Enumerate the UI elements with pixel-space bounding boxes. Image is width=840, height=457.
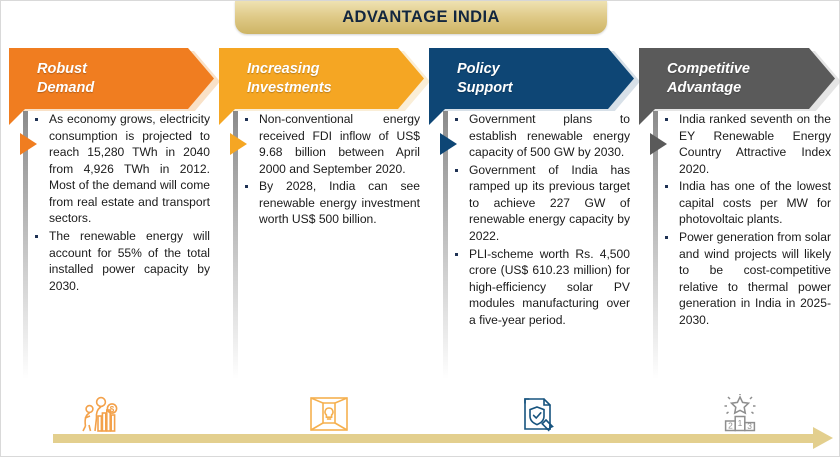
column-robust-demand: Robust Demand As economy grows, electric… <box>9 48 214 383</box>
panel-pointer-policy-support <box>440 133 457 155</box>
panel-pointer-increasing-investments <box>230 133 247 155</box>
podium-star-icon: 1 2 3 <box>717 394 763 434</box>
advantage-india-banner: ADVANTAGE INDIA <box>235 1 607 34</box>
panel-robust-demand: As economy grows, electricity consumptio… <box>9 111 214 383</box>
column-heading-increasing-investments: Increasing Investments <box>247 60 332 97</box>
list-item: PLI-scheme worth Rs. 4,500 crore (US$ 61… <box>467 246 630 329</box>
panel-pointer-competitive-advantage <box>650 133 667 155</box>
page-title: ADVANTAGE INDIA <box>342 8 500 27</box>
growth-chart-icon: $ <box>76 394 122 434</box>
panel-corner-robust-demand <box>9 109 25 125</box>
column-heading-robust-demand: Robust Demand <box>37 60 94 97</box>
panel-increasing-investments: Non-conventional energy received FDI inf… <box>219 111 424 383</box>
panel-corner-competitive-advantage <box>639 109 655 125</box>
panel-competitive-advantage: India ranked seventh on the EY Renewable… <box>639 111 835 383</box>
list-item: As economy grows, electricity consumptio… <box>47 111 210 227</box>
svg-text:2: 2 <box>728 420 733 430</box>
panel-corner-increasing-investments <box>219 109 235 125</box>
list-item: India has one of the lowest capital cost… <box>677 178 831 228</box>
bullet-list-policy-support: Government plans to establish renewable … <box>429 111 634 328</box>
chevron-header-competitive-advantage[interactable]: Competitive Advantage <box>639 48 835 109</box>
list-item: India ranked seventh on the EY Renewable… <box>677 111 831 177</box>
list-item: Non-conventional energy received FDI inf… <box>257 111 420 177</box>
chevron-header-robust-demand[interactable]: Robust Demand <box>9 48 214 109</box>
list-item: By 2028, India can see renewable energy … <box>257 178 420 228</box>
chevron-header-policy-support[interactable]: Policy Support <box>429 48 634 109</box>
panel-pointer-robust-demand <box>20 133 37 155</box>
open-door-bulb-icon <box>306 394 352 434</box>
infographic-root: ADVANTAGE INDIA Robust Demand As economy… <box>0 0 840 457</box>
list-item: Government of India has ramped up its pr… <box>467 162 630 245</box>
list-item: Power generation from solar and wind pro… <box>677 229 831 328</box>
svg-text:1: 1 <box>738 418 743 428</box>
bullet-list-competitive-advantage: India ranked seventh on the EY Renewable… <box>639 111 835 328</box>
list-item: Government plans to establish renewable … <box>467 111 630 161</box>
policy-document-shield-icon <box>513 394 559 434</box>
column-competitive-advantage: Competitive Advantage India ranked seven… <box>639 48 835 383</box>
column-policy-support: Policy Support Government plans to estab… <box>429 48 634 383</box>
panel-policy-support: Government plans to establish renewable … <box>429 111 634 383</box>
panel-corner-policy-support <box>429 109 445 125</box>
svg-text:3: 3 <box>747 421 752 431</box>
bottom-arrow-head-icon <box>813 427 833 449</box>
bottom-timeline-arrow <box>53 434 819 443</box>
chevron-header-increasing-investments[interactable]: Increasing Investments <box>219 48 424 109</box>
column-increasing-investments: Increasing Investments Non-conventional … <box>219 48 424 383</box>
bullet-list-robust-demand: As economy grows, electricity consumptio… <box>9 111 214 294</box>
column-heading-policy-support: Policy Support <box>457 60 513 97</box>
column-heading-competitive-advantage: Competitive Advantage <box>667 60 750 97</box>
list-item: The renewable energy will account for 55… <box>47 228 210 294</box>
bullet-list-increasing-investments: Non-conventional energy received FDI inf… <box>219 111 424 228</box>
